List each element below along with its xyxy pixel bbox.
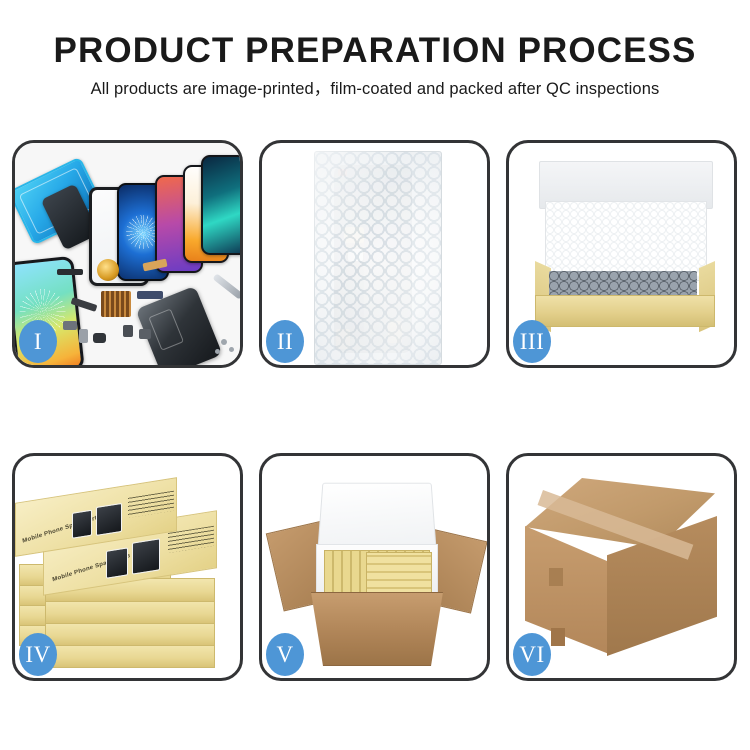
step-badge-v: V	[266, 633, 304, 676]
yellow-box-front	[535, 295, 715, 327]
screw-part-3	[215, 349, 220, 354]
step-badge-i: I	[19, 320, 57, 363]
step-panel-iv: Mobile Phone Spare Parts Mobile Phone Sp…	[12, 453, 243, 681]
box-screen-art-1b	[96, 503, 122, 536]
step-panel-ii: II	[259, 140, 490, 368]
yellow-boxes-row-2	[366, 552, 432, 596]
connector-part-1	[123, 325, 133, 337]
white-foam-pad	[545, 201, 707, 281]
carton-front-wall	[302, 592, 452, 666]
stacked-box-slab-5	[45, 644, 215, 668]
connector-part-4	[93, 333, 106, 343]
process-steps-grid: I II III	[12, 140, 738, 681]
step-badge-iv: IV	[19, 633, 57, 676]
bubble-wrap-bag	[314, 151, 442, 365]
step-badge-vi: VI	[513, 633, 551, 676]
connector-part-5	[63, 321, 77, 330]
page-subtitle: All products are image-printed，film-coat…	[0, 81, 750, 98]
connector-part-2	[139, 329, 151, 339]
carton-tab-1	[549, 568, 563, 586]
earpiece-part	[57, 269, 83, 275]
step-panel-v: V	[259, 453, 490, 681]
step-panel-i: I	[12, 140, 243, 368]
stacked-box-slab-7	[45, 600, 215, 624]
styrofoam-lid	[317, 483, 436, 550]
carton-tab-2	[551, 628, 565, 646]
step-panel-iii: III	[506, 140, 737, 368]
step-badge-iii: III	[513, 320, 551, 363]
box-screen-art-2a	[106, 547, 128, 578]
box-screen-art-1a	[72, 510, 92, 539]
step-panel-vi: VI	[506, 453, 737, 681]
page-header: PRODUCT PREPARATION PROCESS All products…	[0, 0, 750, 98]
screw-part-2	[229, 347, 234, 352]
teal-flagship-phone	[201, 155, 240, 255]
connector-part-3	[79, 329, 88, 343]
box-spec-lines-1	[128, 491, 174, 518]
stacked-box-slab-6	[45, 622, 215, 646]
step-badge-ii: II	[266, 320, 304, 363]
flex-cable-part-3	[137, 291, 163, 299]
page-title: PRODUCT PREPARATION PROCESS	[0, 33, 750, 68]
box-screen-art-2b	[132, 538, 160, 574]
screw-part-1	[221, 339, 227, 345]
chip-grid-part	[101, 291, 131, 317]
speaker-coil-part	[97, 259, 119, 281]
